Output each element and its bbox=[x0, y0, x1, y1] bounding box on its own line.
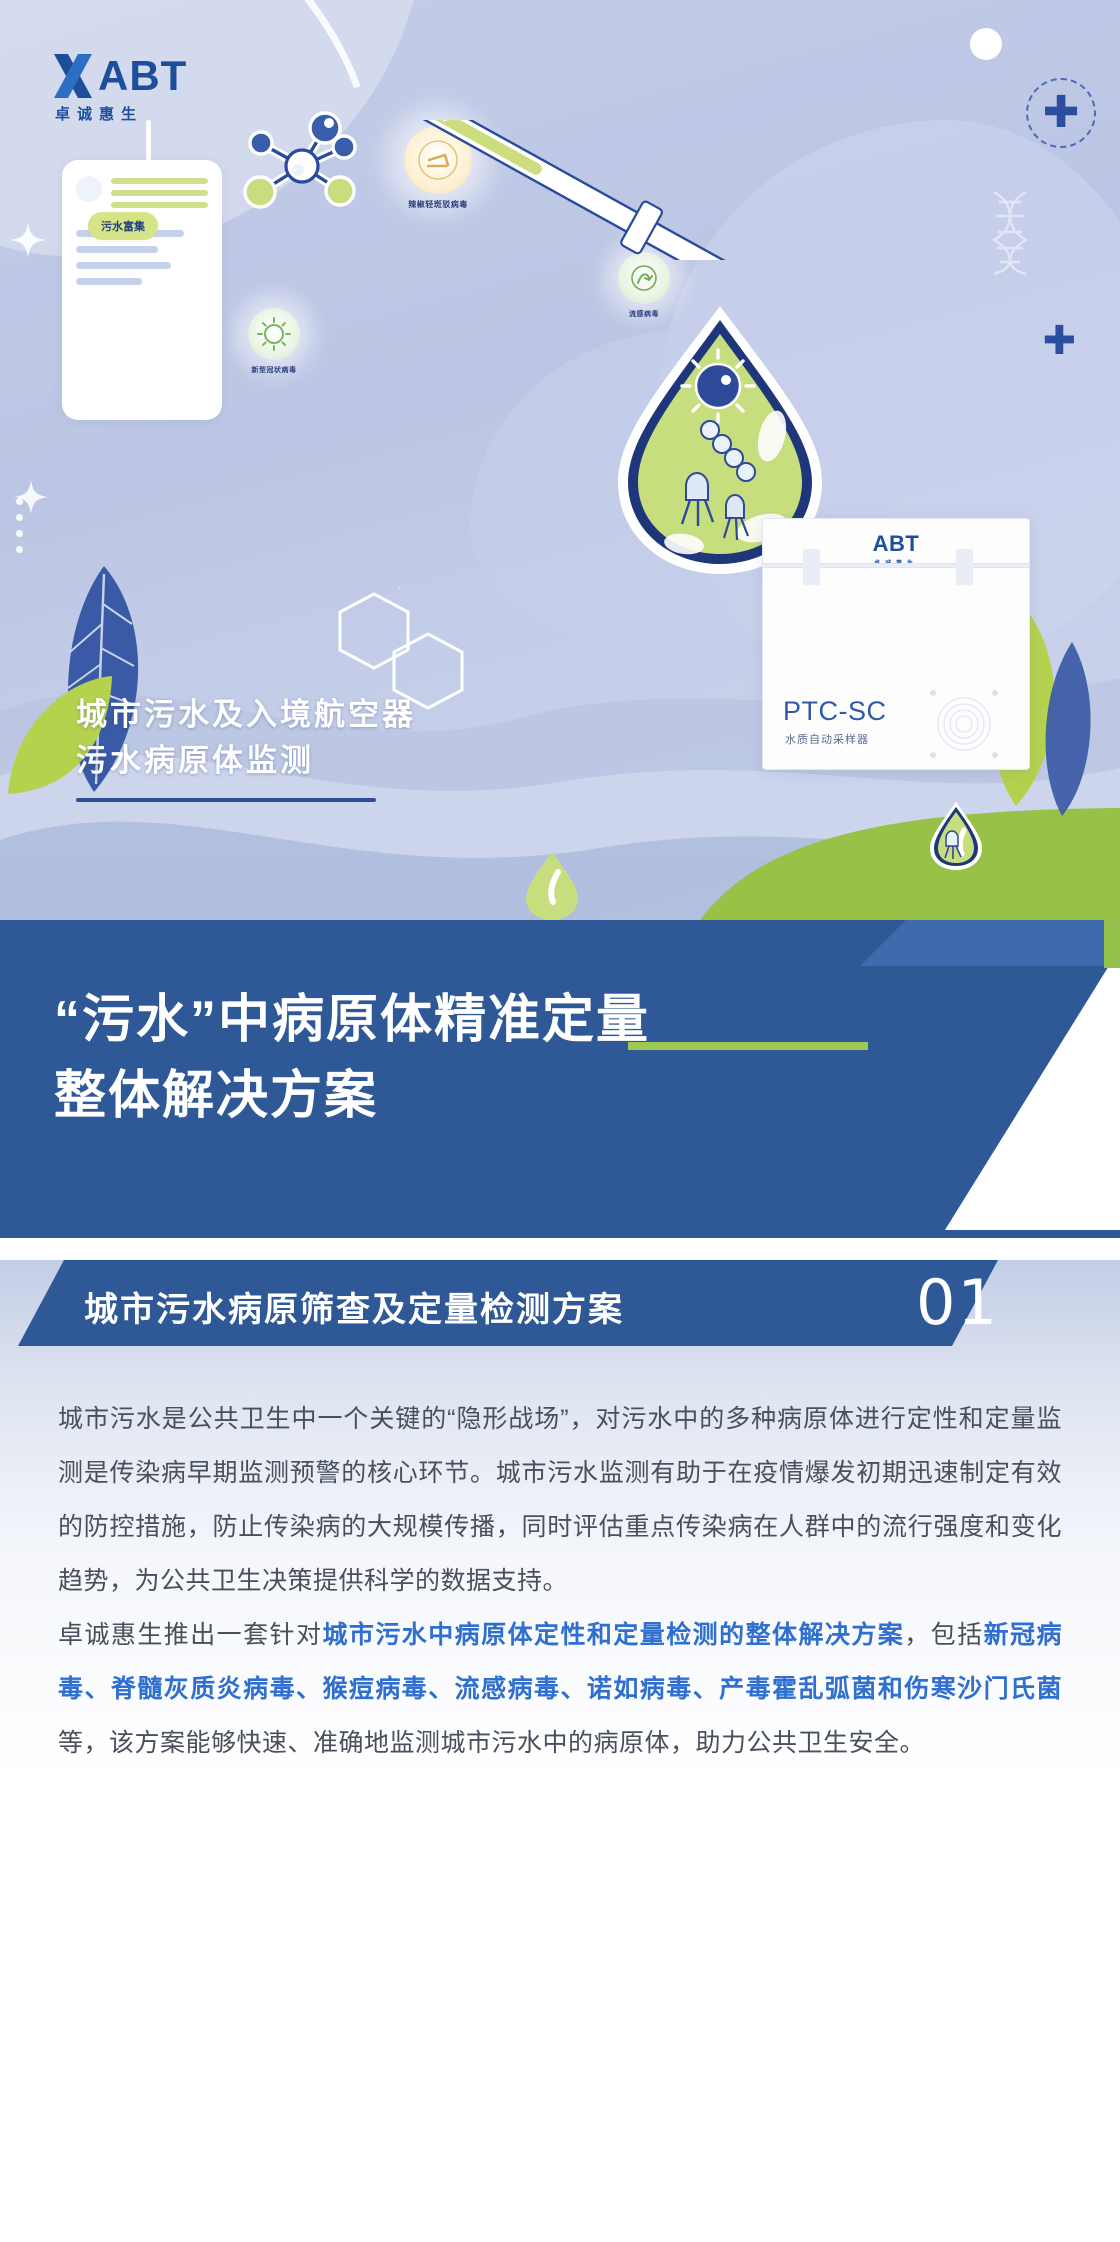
document-avatar-circle bbox=[76, 176, 102, 202]
device-latch-right bbox=[956, 549, 973, 585]
body-text: ，包括 bbox=[904, 1621, 983, 1649]
device-latch-left bbox=[803, 549, 820, 585]
plus-icon-small: ✚ bbox=[1042, 318, 1076, 364]
main-title-banner: “污水”中病原体精准定量 整体解决方案 bbox=[0, 920, 1120, 1238]
section-01-number: 01 bbox=[916, 1266, 999, 1339]
highlighted-text: 城市污水中病原体定性和定量检测的整体解决方案 bbox=[322, 1621, 904, 1649]
dna-helix-icon bbox=[986, 190, 1034, 276]
molecule-icon bbox=[232, 96, 392, 236]
hero-title-rule bbox=[76, 798, 376, 802]
water-droplet-small-left bbox=[524, 850, 580, 920]
document-card bbox=[62, 160, 222, 420]
body-text: 卓诚惠生推出一套针对 bbox=[58, 1621, 322, 1649]
banner-bottom-strip bbox=[0, 1230, 1120, 1238]
covid-virus-icon bbox=[248, 308, 300, 360]
section-01-header: 城市污水病原筛查及定量检测方案 01 bbox=[0, 1260, 1120, 1350]
dot-column-decoration bbox=[16, 498, 23, 562]
plus-icon: ✚ bbox=[1043, 93, 1080, 133]
swab-icon bbox=[372, 120, 772, 260]
hero-banner: ABT 卓诚惠生 bbox=[0, 0, 1120, 920]
device-card: ABT 卓诚惠生 PTC-SC 水质自动采样器 bbox=[762, 518, 1030, 770]
water-droplet-small-right bbox=[928, 800, 984, 872]
wastewater-enrichment-pill: 污水富集 bbox=[88, 212, 158, 240]
banner-title-line-1: “污水”中病原体精准定量 bbox=[54, 982, 650, 1058]
document-line bbox=[111, 190, 208, 196]
document-body-line bbox=[76, 246, 158, 253]
document-line bbox=[111, 202, 208, 208]
banner-title-line-2: 整体解决方案 bbox=[54, 1058, 650, 1134]
sparkle-icon bbox=[10, 222, 46, 258]
section-01: 城市污水病原筛查及定量检测方案 01 城市污水是公共卫生中一个关键的“隐形战场”… bbox=[0, 1260, 1120, 1780]
x-mark-icon bbox=[52, 52, 94, 100]
plus-dashed-badge: ✚ bbox=[1026, 78, 1096, 148]
device-vent-icon bbox=[929, 689, 999, 759]
device-description-label: 水质自动采样器 bbox=[785, 731, 869, 747]
section-01-heading: 城市污水病原筛查及定量检测方案 bbox=[84, 1282, 624, 1331]
device-model-label: PTC-SC bbox=[783, 696, 887, 727]
brand-logo: ABT 卓诚惠生 bbox=[52, 52, 232, 124]
section-01-paragraph-1: 城市污水是公共卫生中一个关键的“隐形战场”，对污水中的多种病原体进行定性和定量监… bbox=[58, 1392, 1062, 1608]
brand-logo-text: ABT bbox=[98, 53, 187, 99]
white-dot-decoration bbox=[970, 28, 1002, 60]
document-body-line bbox=[76, 278, 142, 285]
brand-logo-subtitle: 卓诚惠生 bbox=[52, 103, 232, 124]
document-body-line bbox=[76, 262, 171, 269]
hero-title-block: 城市污水及入境航空器 污水病原体监测 bbox=[76, 692, 416, 802]
poster-page: ABT 卓诚惠生 bbox=[0, 0, 1120, 2242]
hero-title-line-2: 污水病原体监测 bbox=[76, 738, 416, 784]
body-text: 等，该方案能够快速、准确地监测城市污水中的病原体，助力公共卫生安全。 bbox=[58, 1729, 925, 1757]
badge-covid-virus: 新型冠状病毒 bbox=[248, 308, 300, 375]
document-line bbox=[111, 178, 208, 184]
banner-title-underline bbox=[628, 1042, 868, 1050]
badge-covid-virus-label: 新型冠状病毒 bbox=[248, 365, 300, 375]
banner-green-accent bbox=[1104, 920, 1120, 968]
section-01-body: 城市污水是公共卫生中一个关键的“隐形战场”，对污水中的多种病原体进行定性和定量监… bbox=[0, 1350, 1120, 1770]
leaf-blue-right-icon bbox=[1032, 640, 1102, 820]
hero-title-line-1: 城市污水及入境航空器 bbox=[76, 692, 416, 738]
banner-title-block: “污水”中病原体精准定量 整体解决方案 bbox=[54, 982, 650, 1134]
section-01-paragraph-2: 卓诚惠生推出一套针对城市污水中病原体定性和定量检测的整体解决方案，包括新冠病毒、… bbox=[58, 1608, 1062, 1770]
